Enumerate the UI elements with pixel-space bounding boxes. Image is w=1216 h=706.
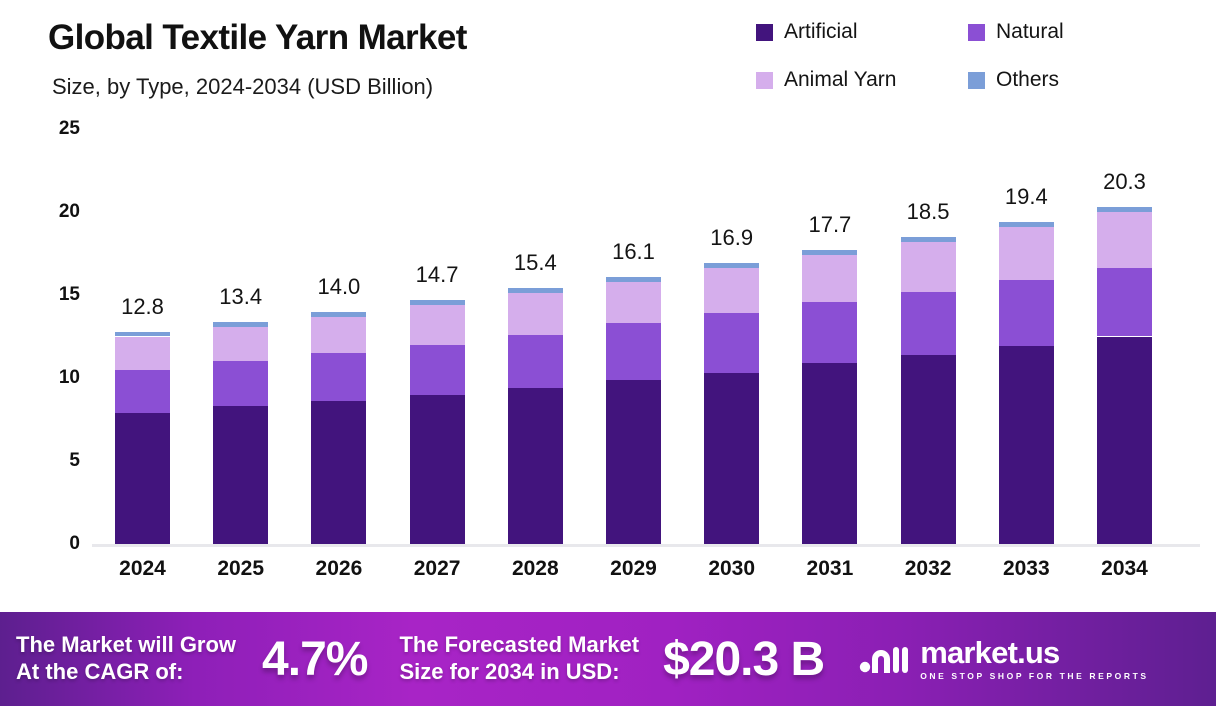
bar-value-label: 12.8 <box>121 294 164 320</box>
bar-segment[interactable] <box>1097 337 1152 545</box>
cagr-block: The Market will Grow At the CAGR of: 4.7… <box>16 632 367 687</box>
bar-group[interactable]: 19.4 <box>999 0 1054 544</box>
bar-value-label: 16.1 <box>612 239 655 265</box>
x-axis-tick-label: 2033 <box>1003 557 1050 581</box>
bar-value-label: 16.9 <box>710 225 753 251</box>
bar-segment[interactable] <box>311 312 366 317</box>
bar-group[interactable]: 14.0 <box>311 0 366 544</box>
bar-segment[interactable] <box>901 292 956 355</box>
brand-logo[interactable]: market.us ONE STOP SHOP FOR THE REPORTS <box>858 637 1148 682</box>
bar-segment[interactable] <box>606 277 661 282</box>
forecast-value: $20.3 B <box>663 632 824 687</box>
y-axis-tick-label: 20 <box>36 201 80 223</box>
bar-segment[interactable] <box>410 305 465 345</box>
bar-segment[interactable] <box>999 280 1054 346</box>
bar-segment[interactable] <box>508 293 563 335</box>
bar-segment[interactable] <box>704 268 759 313</box>
y-axis-tick-label: 10 <box>36 367 80 389</box>
bar-segment[interactable] <box>606 380 661 544</box>
bar-value-label: 17.7 <box>808 212 851 238</box>
x-axis-tick-label: 2030 <box>708 557 755 581</box>
bar-segment[interactable] <box>802 363 857 544</box>
bar-segment[interactable] <box>606 282 661 324</box>
bar-segment[interactable] <box>115 413 170 544</box>
bar-segment[interactable] <box>999 222 1054 227</box>
plot-area: 0510152025 12.813.414.014.715.416.116.91… <box>0 0 1216 600</box>
bar-group[interactable]: 16.1 <box>606 0 661 544</box>
bar-segment[interactable] <box>802 250 857 255</box>
bar-value-label: 18.5 <box>907 199 950 225</box>
bar-group[interactable]: 17.7 <box>802 0 857 544</box>
bar-segment[interactable] <box>410 395 465 544</box>
forecast-caption-line2: Size for 2034 in USD: <box>399 659 639 686</box>
y-axis-tick-label: 5 <box>36 450 80 472</box>
bar-segment[interactable] <box>311 317 366 354</box>
chart-infographic: Global Textile Yarn Market Size, by Type… <box>0 0 1216 706</box>
bar-segment[interactable] <box>213 327 268 362</box>
bar-segment[interactable] <box>1097 268 1152 336</box>
x-axis-tick-label: 2028 <box>512 557 559 581</box>
footer-banner: The Market will Grow At the CAGR of: 4.7… <box>0 612 1216 706</box>
x-axis-tick-label: 2024 <box>119 557 166 581</box>
bar-segment[interactable] <box>508 335 563 388</box>
bar-group[interactable]: 14.7 <box>410 0 465 544</box>
bar-segment[interactable] <box>213 322 268 327</box>
bar-segment[interactable] <box>704 263 759 268</box>
bar-segment[interactable] <box>802 255 857 301</box>
bar-segment[interactable] <box>213 406 268 544</box>
brand-tagline: ONE STOP SHOP FOR THE REPORTS <box>920 672 1148 681</box>
x-axis-tick-label: 2025 <box>217 557 264 581</box>
bar-segment[interactable] <box>115 370 170 413</box>
x-axis-tick-label: 2029 <box>610 557 657 581</box>
bar-segment[interactable] <box>311 353 366 401</box>
forecast-caption: The Forecasted Market Size for 2034 in U… <box>399 632 639 686</box>
bar-segment[interactable] <box>115 332 170 337</box>
brand-text-wrap: market.us ONE STOP SHOP FOR THE REPORTS <box>920 637 1148 681</box>
bar-segment[interactable] <box>508 288 563 293</box>
bar-group[interactable]: 16.9 <box>704 0 759 544</box>
cagr-value: 4.7% <box>262 632 367 687</box>
x-axis-tick-label: 2032 <box>905 557 952 581</box>
bar-segment[interactable] <box>115 337 170 370</box>
bar-segment[interactable] <box>999 346 1054 544</box>
x-axis-tick-label: 2026 <box>316 557 363 581</box>
bar-segment[interactable] <box>606 323 661 379</box>
brand-name: market.us <box>920 637 1148 668</box>
forecast-block: The Forecasted Market Size for 2034 in U… <box>399 632 824 687</box>
bar-value-label: 13.4 <box>219 284 262 310</box>
bar-group[interactable]: 15.4 <box>508 0 563 544</box>
cagr-caption: The Market will Grow At the CAGR of: <box>16 632 236 686</box>
x-axis-tick-label: 2031 <box>807 557 854 581</box>
bar-group[interactable]: 12.8 <box>115 0 170 544</box>
x-axis-tick-label: 2027 <box>414 557 461 581</box>
bar-segment[interactable] <box>901 242 956 292</box>
x-axis-tick-label: 2034 <box>1101 557 1148 581</box>
bar-group[interactable]: 18.5 <box>901 0 956 544</box>
bar-segment[interactable] <box>999 227 1054 280</box>
y-axis-tick-label: 15 <box>36 284 80 306</box>
bar-value-label: 14.0 <box>317 274 360 300</box>
y-axis-tick-label: 25 <box>36 118 80 140</box>
bar-segment[interactable] <box>410 345 465 395</box>
bar-value-label: 19.4 <box>1005 184 1048 210</box>
bar-segment[interactable] <box>1097 207 1152 212</box>
bar-segment[interactable] <box>508 388 563 544</box>
bar-segment[interactable] <box>410 300 465 305</box>
market-us-logo-icon <box>858 637 910 682</box>
cagr-caption-line2: At the CAGR of: <box>16 659 236 686</box>
bar-segment[interactable] <box>802 302 857 363</box>
bar-segment[interactable] <box>213 361 268 406</box>
bar-group[interactable]: 20.3 <box>1097 0 1152 544</box>
x-axis-labels: 2024202520262027202820292030203120322033… <box>0 547 1216 593</box>
bar-segment[interactable] <box>704 373 759 544</box>
bar-value-label: 15.4 <box>514 250 557 276</box>
bar-segment[interactable] <box>311 401 366 544</box>
cagr-caption-line1: The Market will Grow <box>16 632 236 659</box>
bar-segment[interactable] <box>901 237 956 242</box>
forecast-caption-line1: The Forecasted Market <box>399 632 639 659</box>
bar-group[interactable]: 13.4 <box>213 0 268 544</box>
bar-value-label: 14.7 <box>416 262 459 288</box>
bar-value-label: 20.3 <box>1103 169 1146 195</box>
bar-segment[interactable] <box>1097 212 1152 268</box>
bar-segment[interactable] <box>704 313 759 373</box>
bar-segment[interactable] <box>901 355 956 544</box>
